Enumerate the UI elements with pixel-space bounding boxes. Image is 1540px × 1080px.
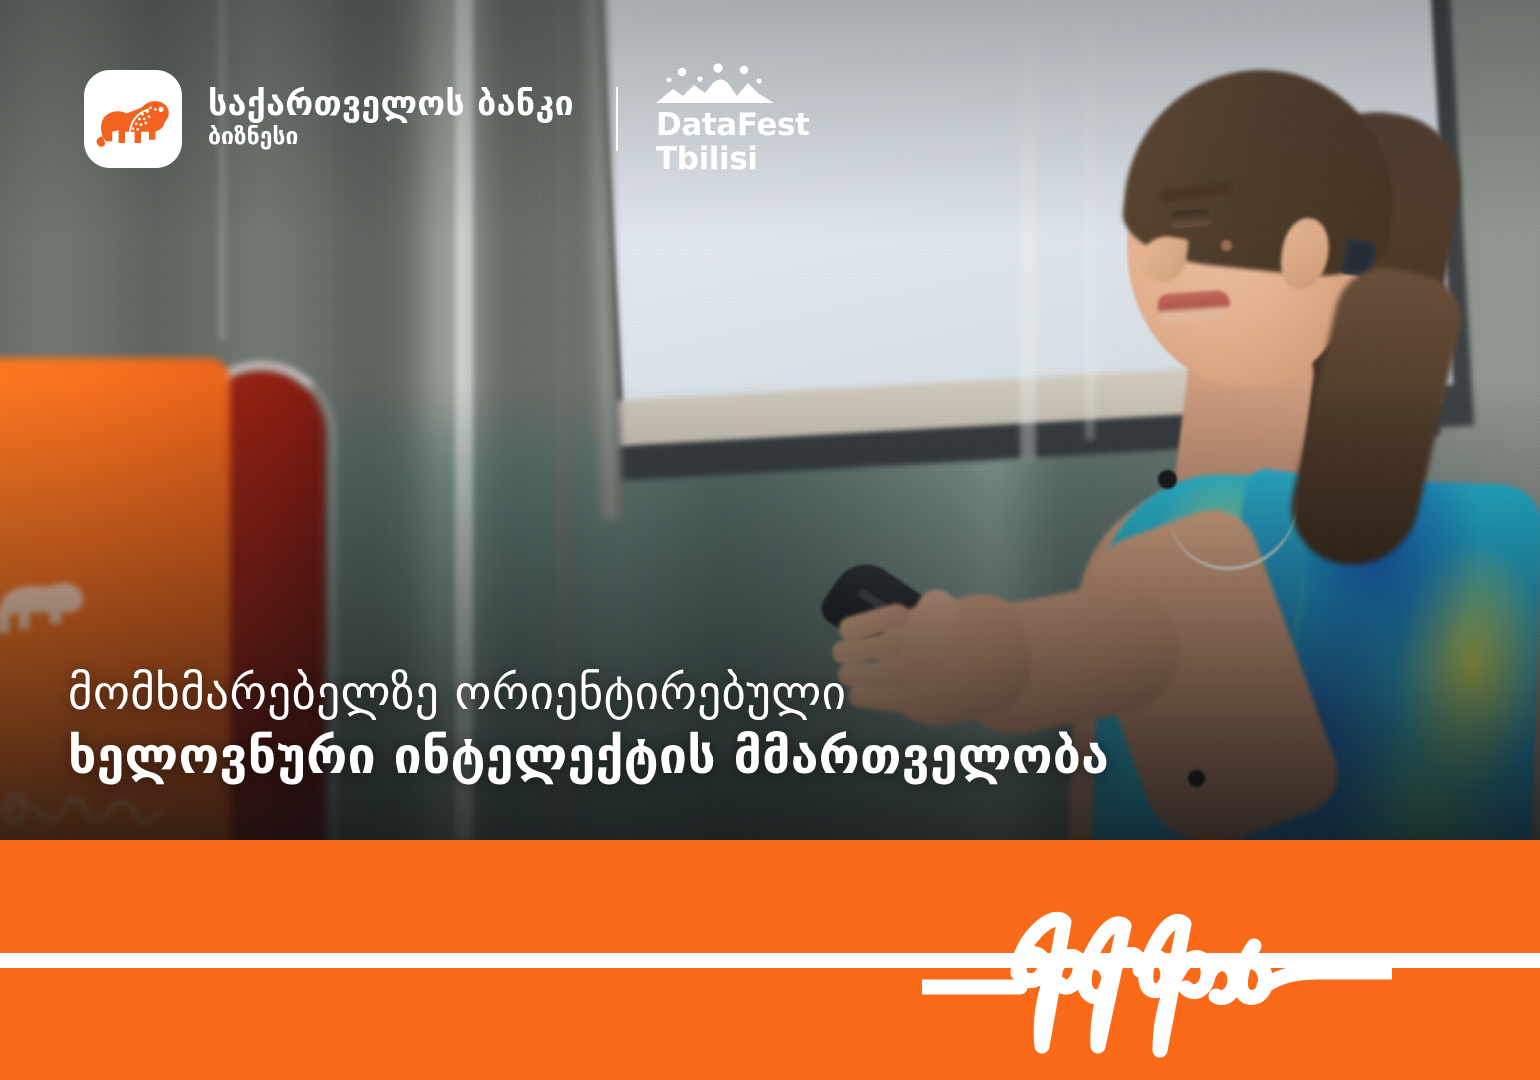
datafest-line-two: Tbilisi	[656, 143, 758, 175]
footer-band	[0, 840, 1540, 1080]
bank-of-georgia-wordmark: საქართველოს ბანკი ბიზნესი	[208, 86, 574, 151]
bank-subtitle: ბიზნესი	[208, 124, 574, 151]
logo-divider	[616, 87, 618, 151]
datafest-line-one: DataFest	[656, 109, 809, 141]
bank-title: საქართველოს ბანკი	[208, 86, 574, 122]
speaker-cheek-mark	[1221, 240, 1232, 251]
datafest-mountains-icon	[656, 63, 774, 105]
speaker-mouth	[1157, 290, 1231, 323]
headline-block: მომხმარებელზე ორიენტირებული ხელოვნური ინ…	[68, 668, 1109, 785]
bank-of-georgia-logo[interactable]	[84, 70, 182, 168]
bog-lion-icon	[93, 79, 173, 159]
datafest-logo[interactable]: DataFest Tbilisi	[656, 63, 809, 175]
bog-handwritten-script-logo	[922, 860, 1392, 1060]
promo-banner: საქართველოს ბანკი ბიზნესი DataFest Tbili…	[0, 0, 1540, 1080]
headline-line-one: მომხმარებელზე ორიენტირებული	[68, 668, 1109, 721]
headline-line-two: ხელოვნური ინტელექტის მმართველობა	[68, 727, 1109, 785]
logo-row: საქართველოს ბანკი ბიზნესი DataFest Tbili…	[84, 70, 809, 168]
